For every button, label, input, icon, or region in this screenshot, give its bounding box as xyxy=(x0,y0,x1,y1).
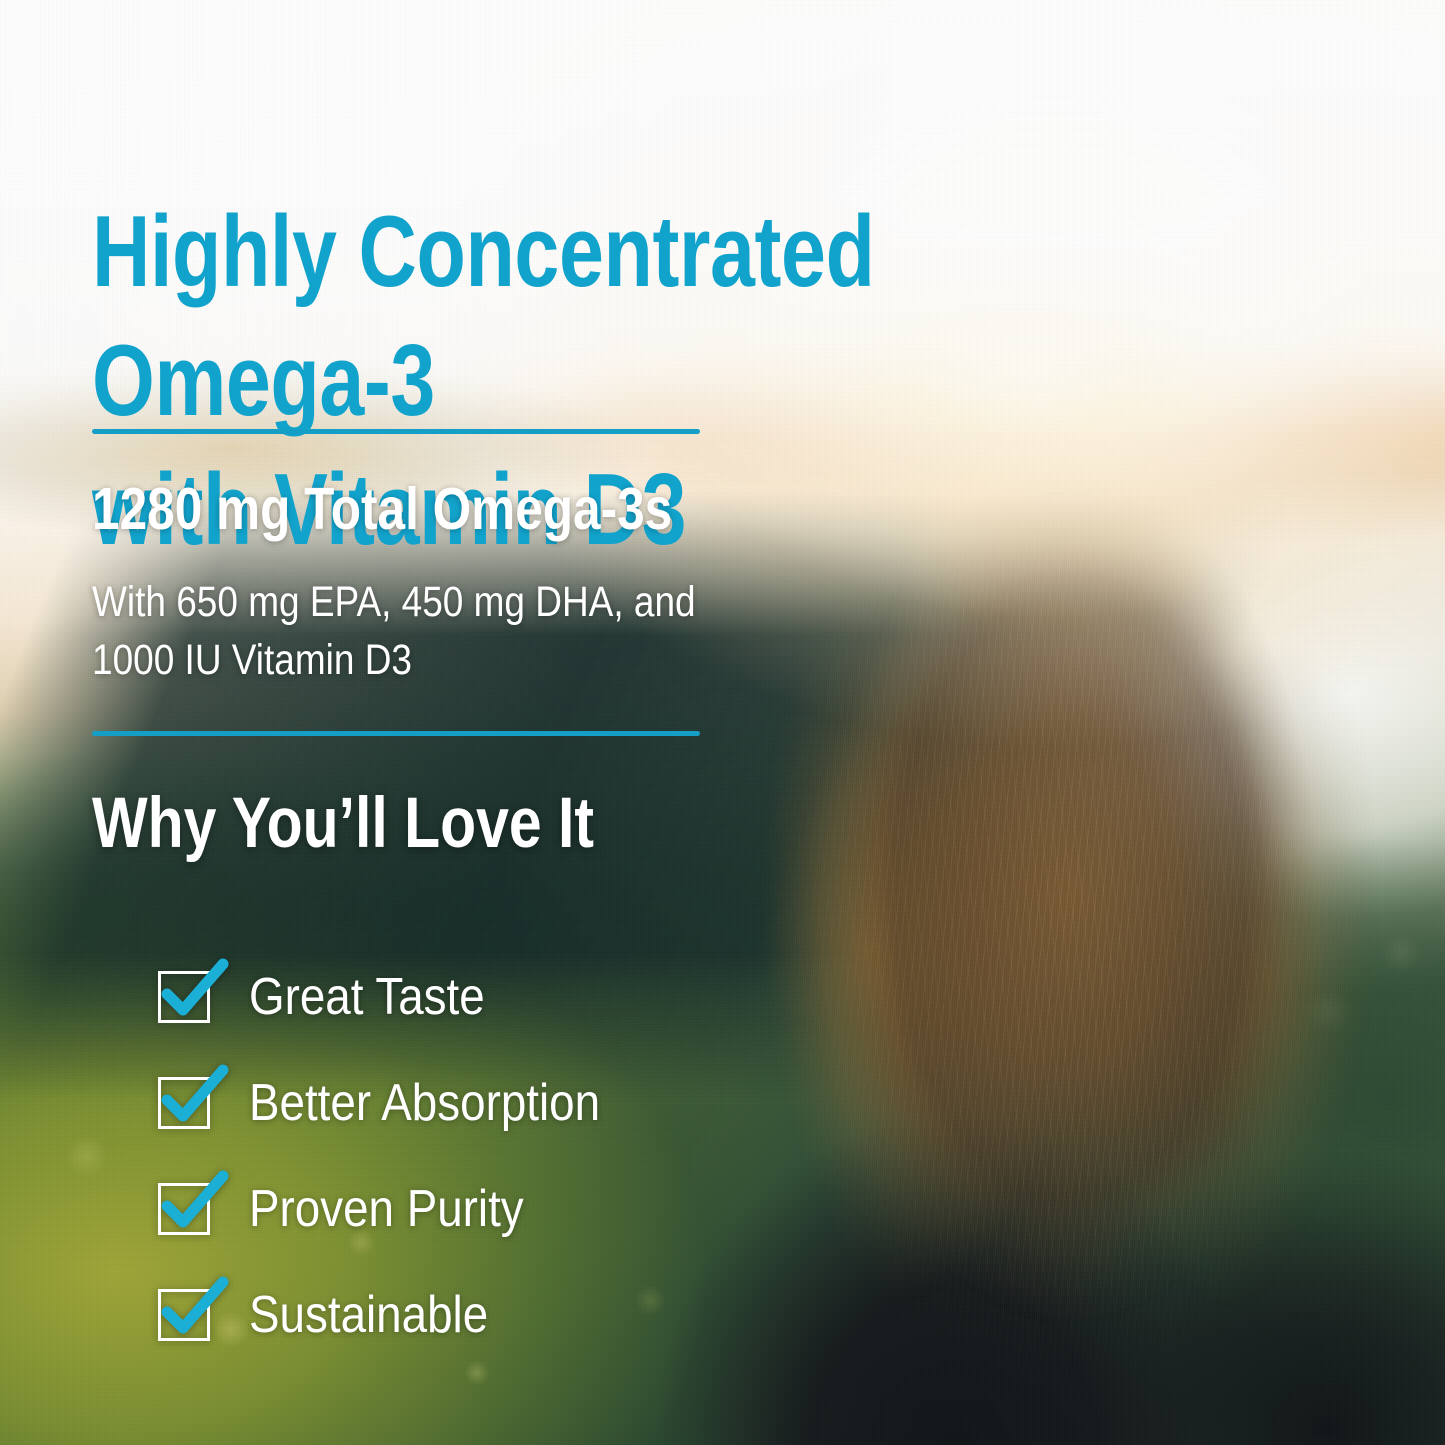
checkbox-checked-icon xyxy=(158,1183,210,1235)
checkbox-checked-icon xyxy=(158,1077,210,1129)
benefits-heading: Why You’ll Love It xyxy=(92,787,594,862)
divider-top xyxy=(92,429,700,434)
dosage-title: 1280 mg Total Omega-3s xyxy=(92,479,672,541)
list-item: Proven Purity xyxy=(158,1156,918,1262)
divider-middle xyxy=(92,731,700,736)
list-item: Great Taste xyxy=(158,944,918,1050)
list-item-label: Sustainable xyxy=(249,1289,488,1341)
checkbox-checked-icon xyxy=(158,1289,210,1341)
checkbox-checked-icon xyxy=(158,971,210,1023)
dosage-detail: With 650 mg EPA, 450 mg DHA, and 1000 IU… xyxy=(92,573,746,689)
product-feature-image: Highly Concentrated Omega-3 with Vitamin… xyxy=(0,0,1445,1445)
benefits-list: Great Taste Better Absorption Proven Pur… xyxy=(158,944,918,1368)
list-item: Better Absorption xyxy=(158,1050,918,1156)
list-item: Sustainable xyxy=(158,1262,918,1368)
list-item-label: Proven Purity xyxy=(249,1183,524,1235)
list-item-label: Better Absorption xyxy=(249,1077,600,1129)
list-item-label: Great Taste xyxy=(249,971,485,1023)
